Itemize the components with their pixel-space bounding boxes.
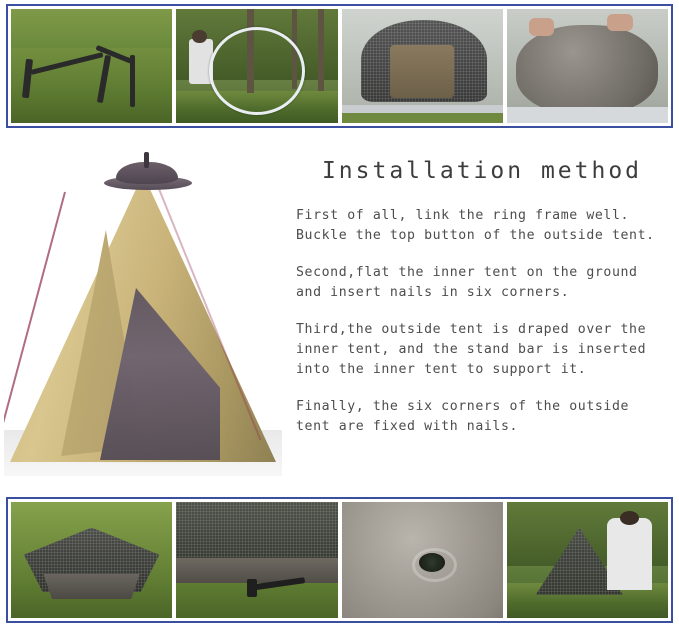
photo-person-draping-outer-tent	[507, 502, 668, 618]
main-content-section: Installation method First of all, link t…	[0, 132, 679, 494]
photo-person-holding-ring-frame	[176, 9, 337, 123]
tent-pole-tip	[144, 152, 149, 168]
instruction-step-4: Finally, the six corners of the outside …	[296, 397, 674, 437]
photo-inner-tent-staked-with-nail	[176, 502, 337, 618]
instructions-text-column: Installation method First of all, link t…	[290, 142, 674, 454]
photo-tent-apex-vent-closeup	[342, 502, 503, 618]
photo-mesh-inner-tent-on-grass	[11, 502, 172, 618]
top-photo-strip	[6, 4, 673, 128]
installation-instruction-page: Installation method First of all, link t…	[0, 0, 679, 627]
photo-hands-holding-grey-fabric	[507, 9, 668, 123]
page-title: Installation method	[290, 158, 674, 184]
instruction-step-3: Third,the outside tent is draped over th…	[296, 320, 674, 380]
photo-inner-tent-frame-assembly	[342, 9, 503, 123]
bottom-photo-strip	[6, 497, 673, 623]
instruction-step-1: First of all, link the ring frame well. …	[296, 206, 674, 246]
instruction-step-2: Second,flat the inner tent on the ground…	[296, 263, 674, 303]
photo-tent-stake-on-grass	[11, 9, 172, 123]
assembled-teepee-tent-photo	[4, 138, 282, 476]
